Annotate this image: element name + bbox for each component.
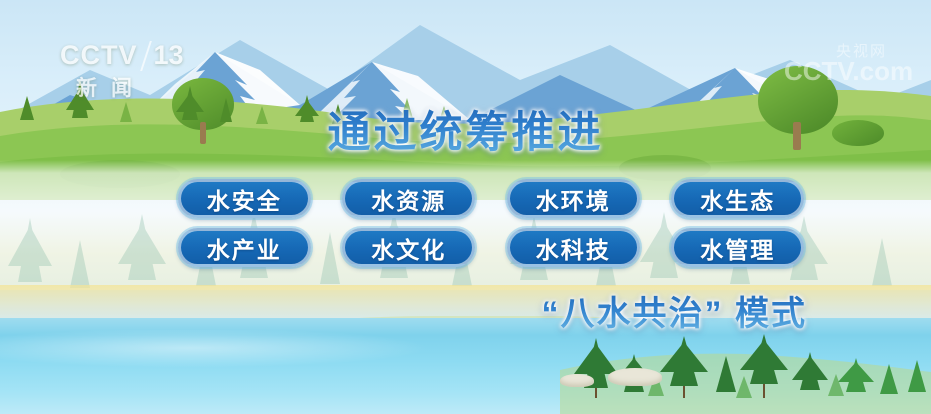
pill-water-management[interactable]: 水管理 [671, 228, 804, 267]
cctv-com-watermark: 央视网 CCTV.com [784, 40, 913, 87]
cctv-wordmark: CCTV [60, 40, 138, 71]
cctv-channel-number: 13 [154, 40, 184, 71]
pill-water-safety[interactable]: 水安全 [178, 179, 311, 218]
cctv-channel-logo: CCTV 13 新闻 [60, 40, 184, 102]
pill-water-technology[interactable]: 水科技 [507, 228, 640, 267]
pill-water-culture[interactable]: 水文化 [342, 228, 475, 267]
cctv-slash-icon [140, 41, 152, 71]
watermark-domain-label: CCTV.com [784, 56, 913, 87]
page-title: 通过统筹推进 [0, 98, 931, 160]
water-governance-pill-grid: 水安全 水资源 水环境 水生态 水产业 水文化 水科技 水管理 [166, 179, 816, 267]
shore-rock-right [608, 368, 662, 386]
pill-water-industry[interactable]: 水产业 [178, 228, 311, 267]
pill-water-resources[interactable]: 水资源 [342, 179, 475, 218]
broadcast-screen: CCTV 13 新闻 央视网 CCTV.com 通过统筹推进 水安全 水资源 水… [0, 0, 931, 414]
shore-rock-left [560, 374, 594, 387]
pill-water-ecology[interactable]: 水生态 [671, 179, 804, 218]
cctv-logo-row: CCTV 13 [60, 40, 184, 71]
subtitle-caption: “八水共治” 模式 [0, 286, 931, 335]
pill-water-environment[interactable]: 水环境 [507, 179, 640, 218]
